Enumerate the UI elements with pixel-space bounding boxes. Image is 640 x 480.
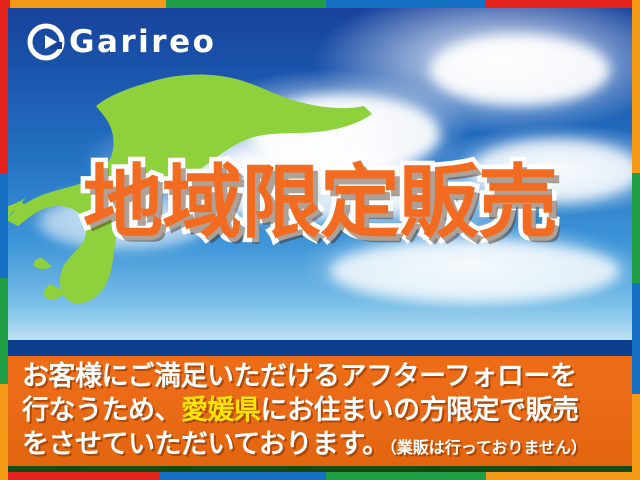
brand-name: Garireo — [69, 27, 216, 58]
circular-g-logo-icon — [26, 22, 66, 62]
border-strip-left-red — [0, 0, 8, 173]
border-strip-right-orange — [632, 394, 640, 480]
border-strip-bottom-red — [0, 472, 160, 480]
message-line-1: お客様にご満足いただけるアフターフォローを — [22, 360, 620, 394]
border-strip-top-red — [486, 0, 640, 8]
cloud-shape — [430, 35, 610, 105]
message-note: （業販は行っておりません） — [389, 438, 587, 457]
promo-banner: Garireo 地域限定販売 お客様にご満足いただけるアフターフォローを 行なう… — [0, 0, 640, 480]
border-strip-top-green — [166, 0, 326, 8]
border-strip-top-orange — [10, 0, 167, 8]
message-line-2: 行なうため、愛媛県にお住まいの方限定で販売 — [22, 394, 620, 428]
border-strip-bottom-blue — [160, 472, 326, 480]
message-panel: お客様にご満足いただけるアフターフォローを 行なうため、愛媛県にお住まいの方限定… — [8, 356, 632, 466]
border-strip-left-green — [0, 278, 8, 384]
border-strip-bottom-green — [326, 472, 486, 480]
brand-logo[interactable]: Garireo — [26, 22, 216, 62]
border-strip-right-blue — [632, 283, 640, 393]
message-line-2-pre: 行なうため、 — [22, 395, 181, 426]
message-line-3-main: をさせていただいております。 — [22, 429, 389, 460]
border-strip-bottom-orange — [486, 472, 640, 480]
message-highlight-prefecture: 愛媛県 — [181, 395, 261, 426]
border-strip-left-blue — [0, 173, 8, 279]
headline-label: 地域限定販売 — [83, 156, 557, 249]
message-line-2-post: にお住まいの方限定で販売 — [261, 395, 579, 426]
border-strip-left-orange — [0, 384, 8, 480]
border-strip-right-orange — [632, 0, 640, 173]
headline-text: 地域限定販売 — [0, 163, 640, 243]
border-strip-right-green — [632, 173, 640, 283]
border-strip-top-blue — [326, 0, 486, 8]
message-line-3: をさせていただいております。（業販は行っておりません） — [22, 428, 620, 465]
